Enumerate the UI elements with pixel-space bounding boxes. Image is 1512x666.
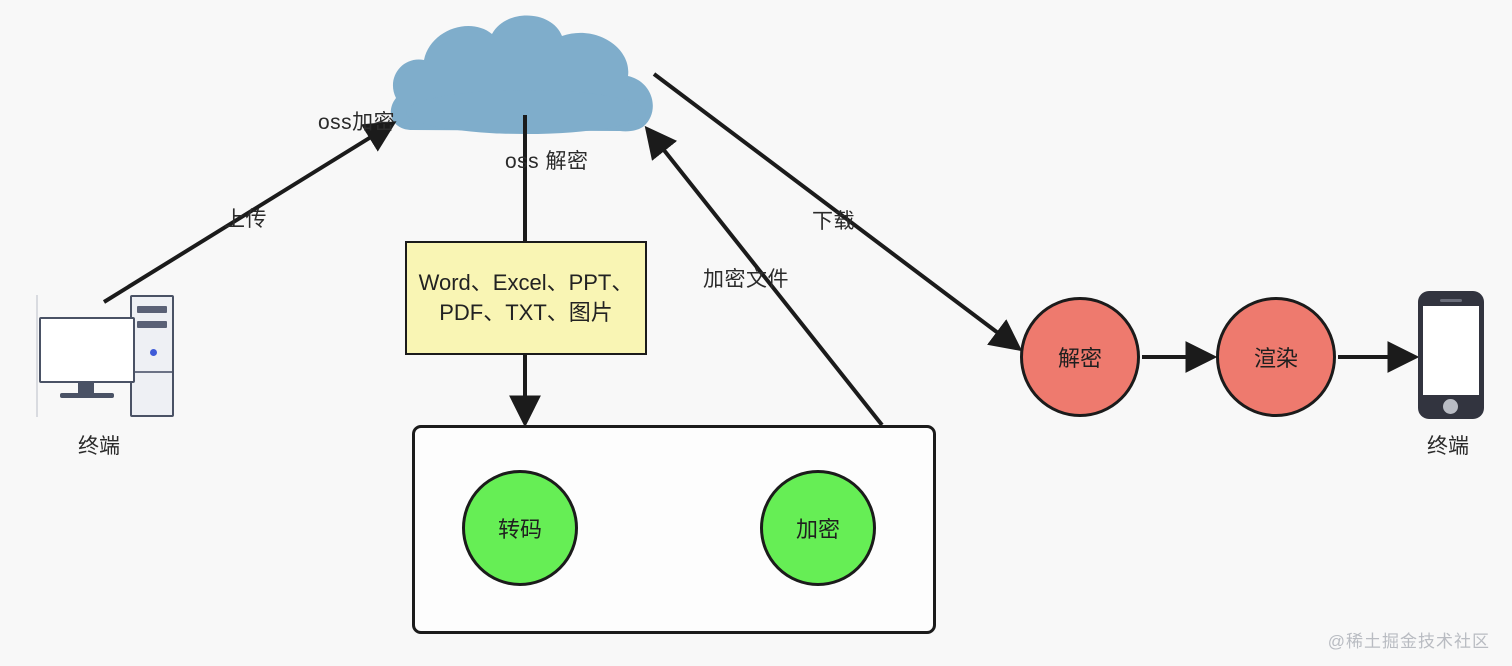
- node-decrypt[interactable]: 解密: [1020, 297, 1140, 417]
- edge-label-oss-decrypt: oss 解密: [505, 145, 589, 175]
- cloud-icon: [391, 15, 653, 134]
- terminal-left-label: 终端: [78, 430, 120, 460]
- phone-speaker-icon: [1440, 299, 1462, 302]
- terminal-right-label: 终端: [1427, 430, 1469, 460]
- edge-label-upload: 上传: [224, 203, 267, 233]
- smartphone-icon: [1418, 291, 1484, 419]
- node-encrypt[interactable]: 加密: [760, 470, 876, 586]
- watermark: @稀土掘金技术社区: [1328, 627, 1490, 652]
- desktop-computer-icon: [36, 295, 174, 417]
- node-transcode[interactable]: 转码: [462, 470, 578, 586]
- phone-screen: [1423, 306, 1479, 395]
- diagram-canvas: oss加密 上传 oss 解密 加密文件 下载 文件 Word、Excel、PP…: [0, 0, 1512, 666]
- monitor-stand-base: [60, 393, 114, 398]
- tower-slot-1: [137, 306, 167, 313]
- monitor-stand-neck: [78, 383, 94, 393]
- tower-divider: [132, 371, 172, 373]
- node-decrypt-label: 解密: [1058, 341, 1102, 373]
- edge-label-oss-encrypt: oss加密: [318, 106, 395, 136]
- edge-label-encrypted-file: 加密文件: [703, 263, 789, 293]
- tower-slot-2: [137, 321, 167, 328]
- node-encrypt-label: 加密: [796, 512, 840, 544]
- edge-label-download: 下载: [812, 205, 855, 235]
- document-types-box: Word、Excel、PPT、PDF、TXT、图片: [405, 241, 647, 355]
- computer-tower-icon: [130, 295, 174, 417]
- phone-home-button-icon: [1443, 399, 1458, 414]
- desktop-edge-line: [36, 295, 38, 417]
- node-transcode-label: 转码: [498, 512, 542, 544]
- power-indicator-icon: [150, 349, 157, 356]
- node-render-label: 渲染: [1254, 341, 1298, 373]
- node-render[interactable]: 渲染: [1216, 297, 1336, 417]
- document-types-text: Word、Excel、PPT、PDF、TXT、图片: [415, 268, 637, 329]
- monitor-icon: [39, 317, 135, 383]
